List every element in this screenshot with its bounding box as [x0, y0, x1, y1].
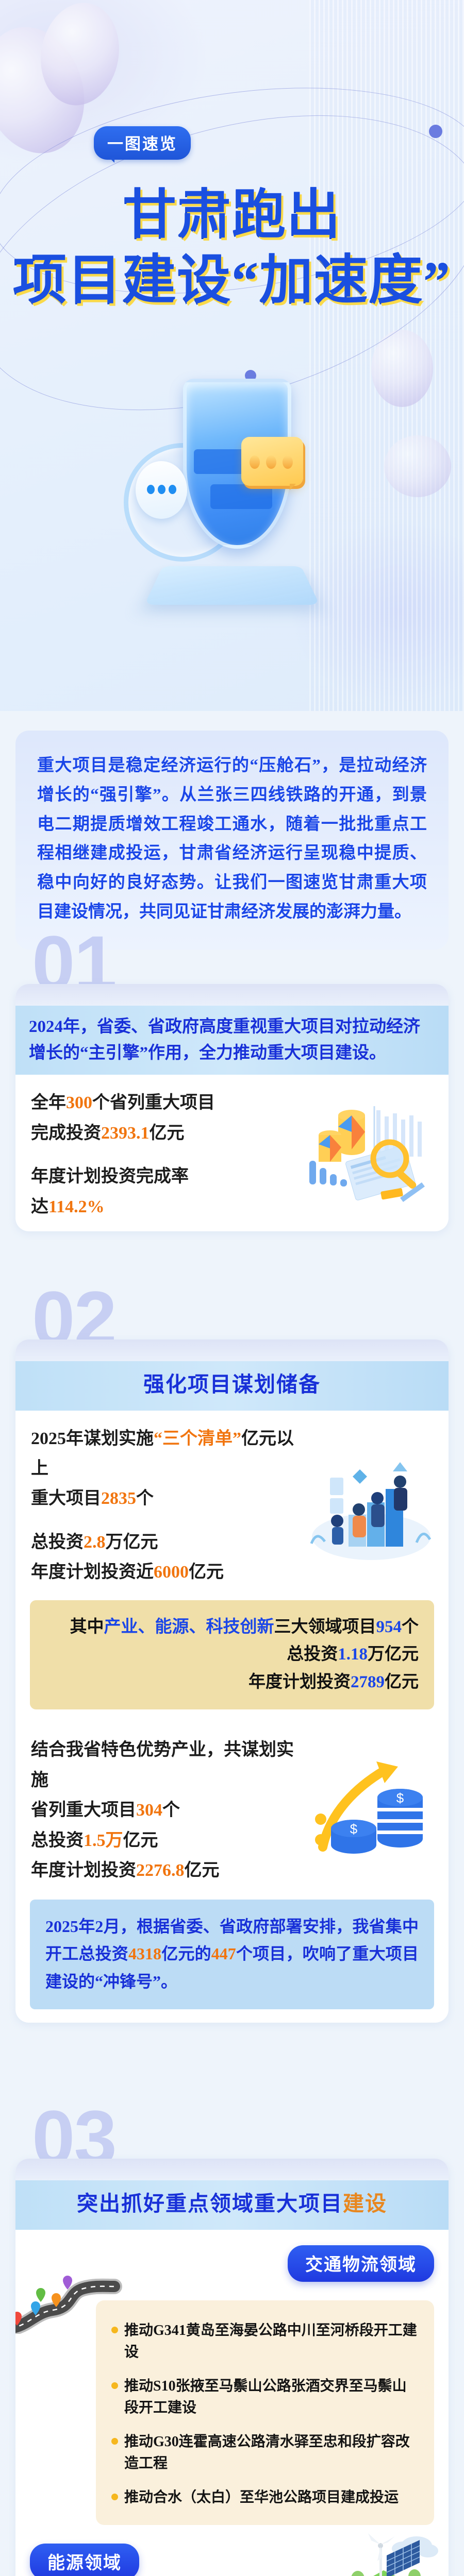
- speech-bubble-icon: [136, 461, 187, 519]
- section-02-cream-box: 其中产业、能源、科技创新三大领域项目954个 总投资1.18万亿元 年度计划投资…: [30, 1600, 434, 1709]
- page-title-line2: 项目建设“加速度”: [0, 248, 464, 314]
- stat-line: 年度计划投资2276.8亿元: [31, 1856, 299, 1886]
- section-01-stats-row: 全年300个省列重大项目 完成投资2393.1亿元 年度计划投资完成率 达114…: [15, 1075, 449, 1231]
- pearl-decoration: [384, 435, 451, 497]
- section-03-title-accent: 建设: [343, 2192, 387, 2215]
- svg-text:$: $: [350, 1821, 358, 1837]
- stat-line: 年度计划投资近6000亿元: [31, 1557, 299, 1587]
- bullet-icon: [111, 2494, 118, 2500]
- domain-pill-transport: 交通物流领域: [288, 2245, 434, 2282]
- dot-icon: [147, 485, 155, 494]
- page-title-line1: 甘肃跑出: [123, 185, 341, 245]
- list-item: 推动S10张掖至马鬃山公路张酒交界至马鬃山段开工建设: [111, 2376, 419, 2419]
- infographic-page: 一图速览 甘肃跑出 项目建设“加速度” 重大项目: [0, 0, 464, 2576]
- stat-line: 重大项目2835个: [31, 1484, 299, 1514]
- hero-banner: 一图速览 甘肃跑出 项目建设“加速度”: [0, 0, 464, 711]
- cream-line: 年度计划投资2789亿元: [45, 1669, 419, 1696]
- list-item: 推动合水（太白）至华池公路项目建成投运: [111, 2487, 419, 2509]
- section-02-stat-text-2: 结合我省特色优势产业，共谋划实施 省列重大项目304个 总投资1.5万亿元 年度…: [31, 1735, 299, 1886]
- domain-block-transport: 交通物流领域: [15, 2230, 449, 2530]
- section-02-stats-row-1: 2025年谋划实施“三个清单”亿元以上 重大项目2835个 总投资2.8万亿元 …: [15, 1411, 449, 1597]
- dot-icon: [158, 485, 165, 494]
- dot-icon: [250, 455, 260, 469]
- section-02-stat-text-1: 2025年谋划实施“三个清单”亿元以上 重大项目2835个 总投资2.8万亿元 …: [31, 1424, 299, 1588]
- page-title: 甘肃跑出 项目建设“加速度”: [0, 183, 464, 314]
- glass-slab-decoration: [144, 566, 320, 605]
- spacer: [31, 1148, 299, 1162]
- intro-card: 重大项目是稳定经济运行的“压舱石”，是拉动经济增长的“强引擎”。从兰张三四线铁路…: [15, 731, 449, 950]
- shield-bar-decoration: [210, 484, 272, 509]
- section-02-card: 强化项目谋划储备 2025年谋划实施“三个清单”亿元以上 重大项目2835个 总…: [15, 1340, 449, 2023]
- stat-line: 结合我省特色优势产业，共谋划实施: [31, 1735, 299, 1795]
- cream-line: 其中产业、能源、科技创新三大领域项目954个: [45, 1614, 419, 1641]
- section-02-blue-box: 2025年2月，根据省委、省政府部署安排，我省集中开工总投资4318亿元的447…: [30, 1900, 434, 2009]
- team-growth-illustration: [299, 1447, 433, 1565]
- stat-line: 全年300个省列重大项目: [31, 1088, 299, 1118]
- section-03-card: 突出抓好重点领域重大项目建设 交通物流领域: [15, 2159, 449, 2576]
- section-02-title: 强化项目谋划储备: [15, 1361, 449, 1411]
- section-03-title-plain: 突出抓好重点领域重大项目: [77, 2192, 343, 2215]
- dot-icon: [266, 455, 276, 469]
- section-01-stat-text: 全年300个省列重大项目 完成投资2393.1亿元 年度计划投资完成率 达114…: [31, 1088, 299, 1222]
- list-item: 推动G30连霍高速公路清水驿至忠和段扩容改造工程: [111, 2431, 419, 2475]
- section-01-lead: 2024年，省委、省政府高度重视重大项目对拉动经济增长的“主引擎”作用，全力推动…: [15, 1006, 449, 1075]
- list-item: 推动G341黄岛至海晏公路中川至河桥段开工建设: [111, 2320, 419, 2363]
- intro-paragraph: 重大项目是稳定经济运行的“压舱石”，是拉动经济增长的“强引擎”。从兰张三四线铁路…: [37, 751, 427, 927]
- magnifier-bar-chart-illustration: [299, 1096, 433, 1214]
- bullet-icon: [111, 2382, 118, 2389]
- dot-icon: [283, 455, 293, 469]
- domain-pill-energy: 能源领域: [30, 2544, 139, 2576]
- svg-text:$: $: [396, 1790, 404, 1806]
- spacer: [31, 1514, 299, 1528]
- coins-growth-illustration: $ $: [299, 1751, 433, 1870]
- card-header-strip: [15, 984, 449, 1006]
- stat-line: 完成投资2393.1亿元: [31, 1118, 299, 1148]
- section-03-title: 突出抓好重点领域重大项目建设: [15, 2180, 449, 2230]
- card-header-strip: [15, 1340, 449, 1361]
- solar-wind-farm-illustration: [326, 2527, 439, 2576]
- stat-line: 总投资2.8万亿元: [31, 1528, 299, 1557]
- quick-view-badge: 一图速览: [94, 126, 191, 160]
- domain-list-transport: 推动G341黄岛至海晏公路中川至河桥段开工建设 推动S10张掖至马鬃山公路张酒交…: [96, 2300, 434, 2525]
- section-02-stats-row-2: 结合我省特色优势产业，共谋划实施 省列重大项目304个 总投资1.5万亿元 年度…: [15, 1722, 449, 1895]
- domain-block-energy: 能源领域: [15, 2530, 449, 2576]
- stat-line: 省列重大项目304个: [31, 1795, 299, 1825]
- message-box-icon: [241, 437, 303, 486]
- bullet-icon: [111, 2438, 118, 2445]
- hero-illustration: [126, 361, 343, 629]
- orbit-dot-icon: [429, 125, 442, 138]
- card-header-strip: [15, 2159, 449, 2180]
- stat-line: 2025年谋划实施“三个清单”亿元以上: [31, 1424, 299, 1484]
- winding-road-illustration: [15, 2257, 130, 2334]
- cream-line: 总投资1.18万亿元: [45, 1641, 419, 1668]
- stat-line: 总投资1.5万亿元: [31, 1826, 299, 1856]
- stat-line: 年度计划投资完成率: [31, 1162, 299, 1192]
- stat-line: 达114.2%: [31, 1192, 299, 1222]
- dot-icon: [169, 485, 176, 494]
- section-01-card: 2024年，省委、省政府高度重视重大项目对拉动经济增长的“主引擎”作用，全力推动…: [15, 984, 449, 1231]
